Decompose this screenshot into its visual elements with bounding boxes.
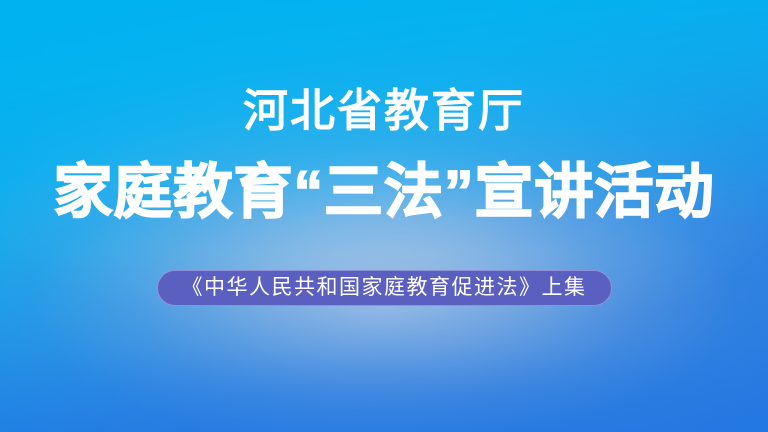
title-card-banner: 河北省教育厅 家庭教育“三法”宣讲活动 《中华人民共和国家庭教育促进法》上集 [0, 0, 768, 432]
subtitle-pill: 《中华人民共和国家庭教育促进法》上集 [157, 270, 612, 306]
banner-content: 河北省教育厅 家庭教育“三法”宣讲活动 《中华人民共和国家庭教育促进法》上集 [0, 0, 768, 432]
page-title: 家庭教育“三法”宣讲活动 [53, 163, 714, 222]
subtitle-pill-label: 《中华人民共和国家庭教育促进法》上集 [182, 277, 587, 298]
organization-title: 河北省教育厅 [243, 88, 525, 135]
